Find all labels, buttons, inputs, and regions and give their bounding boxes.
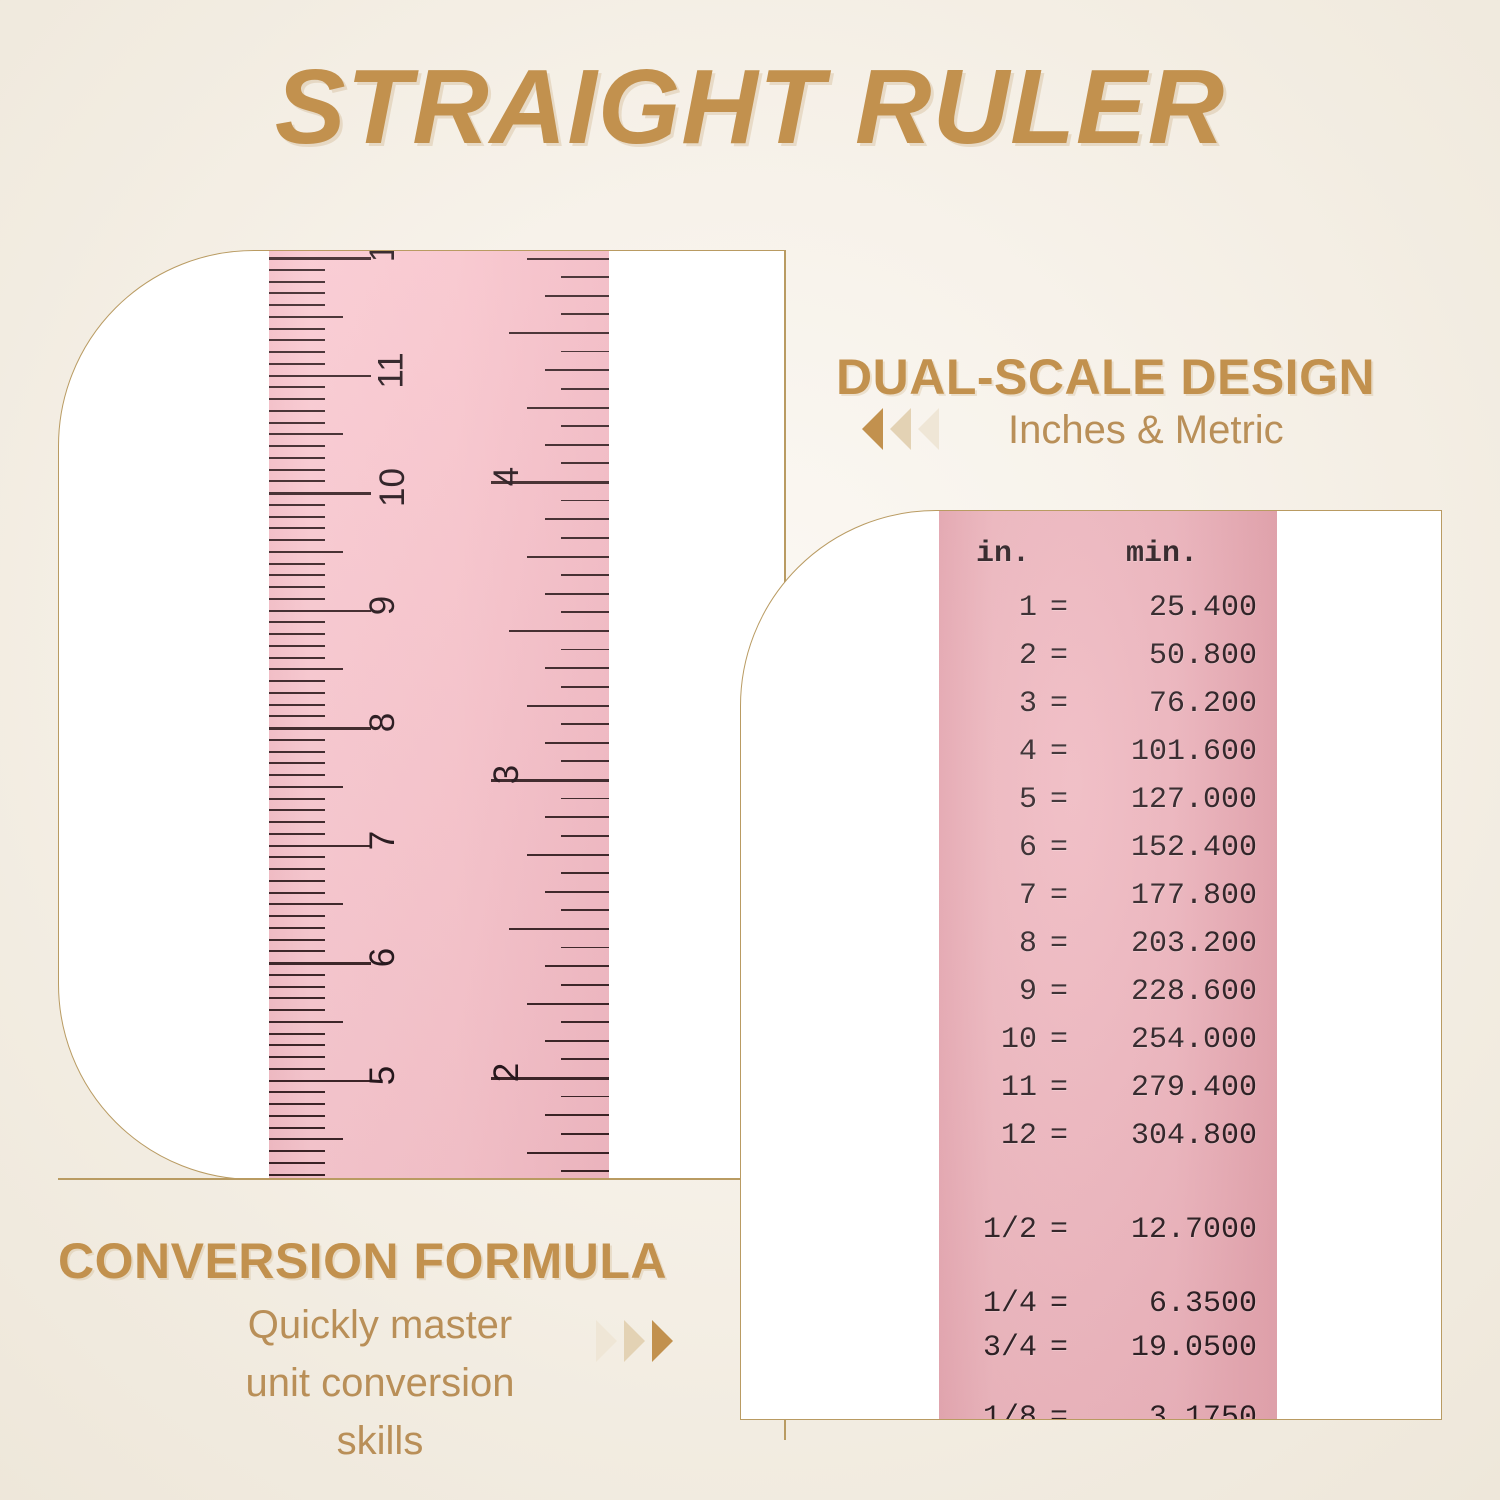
conversion-row-unit: 10 [939,1023,1037,1057]
conversion-row-value: 279.400 [1081,1071,1257,1105]
ruler-tick [269,1162,325,1164]
ruler-tick [561,351,609,353]
ruler-tick [269,1009,325,1011]
ruler-tick [545,667,609,669]
conversion-row-unit: 6 [939,831,1037,865]
ruler-tick [545,1040,609,1042]
ruler-imperial-label: 4 [489,467,524,486]
conversion-row-value: 304.800 [1081,1119,1257,1153]
ruler-imperial-label: 3 [489,765,524,784]
ruler-tick [561,1096,609,1098]
ruler-tick [269,1115,325,1117]
ruler-metric-label: 7 [365,830,400,849]
conversion-row-unit: 12 [939,1119,1037,1153]
ruler-tick [269,739,325,741]
conversion-formula-heading: CONVERSION FORMULA [58,1232,667,1290]
conversion-row: 3=76.200 [939,687,1277,721]
ruler-tick [269,1127,325,1129]
ruler-metric-label: 9 [365,595,400,614]
ruler-tick [269,504,325,506]
conversion-row-equals: = [1037,1401,1081,1420]
ruler-tick [269,551,343,553]
ruler-tick [269,974,325,976]
conversion-row-value: 25.400 [1081,591,1257,625]
ruler-tick [509,332,609,334]
conversion-row-equals: = [1037,1331,1081,1365]
conversion-card-panel: in. min. 1=25.4002=50.8003=76.2004=101.6… [740,510,1442,1420]
conversion-row-equals: = [1037,591,1081,625]
ruler-tick [269,1021,343,1023]
column-header-inches: in. [939,537,1067,571]
conversion-row-equals: = [1037,783,1081,817]
ruler-tick [561,872,609,874]
ruler-tick [545,965,609,967]
conversion-row: 2=50.800 [939,639,1277,673]
ruler-tick [269,704,325,706]
conversion-row-equals: = [1037,1287,1081,1321]
ruler-tick [269,328,325,330]
ruler-tick [545,593,609,595]
conversion-row-unit: 8 [939,927,1037,961]
ruler-tick [269,539,325,541]
page-title: STRAIGHT RULER [0,52,1500,163]
ruler-tick [269,657,325,659]
conversion-row: 9=228.600 [939,975,1277,1009]
ruler-tick [545,444,609,446]
table-header-row: in. min. [939,537,1277,571]
ruler-tick [269,1068,325,1070]
conversion-row: 1=25.400 [939,591,1277,625]
ruler-tick [561,1058,609,1060]
ruler-tick [269,680,325,682]
ruler-tick [561,760,609,762]
ruler-tick [269,939,325,941]
ruler-tick [269,798,325,800]
conversion-row: 12=304.800 [939,1119,1277,1153]
ruler-metric-label: 5 [365,1065,400,1084]
ruler-tick [269,292,325,294]
ruler-tick [527,854,609,856]
conversion-row-unit: 7 [939,879,1037,913]
ruler-tick [561,1021,609,1023]
ruler-tick [269,257,371,260]
conversion-row-value: 6.3500 [1081,1287,1257,1321]
ruler-tick [561,425,609,427]
ruler-tick [561,388,609,390]
ruler-tick [269,950,325,952]
chevron-right-icon [624,1320,645,1362]
conversion-row-equals: = [1037,975,1081,1009]
ruler-tick [269,845,371,848]
ruler-tick [545,369,609,371]
conversion-row-unit: 5 [939,783,1037,817]
panel-divider-horizontal [58,1178,786,1180]
ruler-tick [561,798,609,800]
conversion-row-value: 50.800 [1081,639,1257,673]
conversion-row-value: 76.200 [1081,687,1257,721]
ruler-tick [561,611,609,613]
ruler-tick [269,880,325,882]
ruler-tick [527,1152,609,1154]
dual-scale-subtitle: Inches & Metric [1008,408,1284,453]
ruler-tick [269,774,325,776]
ruler-tick [269,586,325,588]
conversion-row-value: 177.800 [1081,879,1257,913]
ruler-tick [269,351,325,353]
chevron-right-group [596,1320,680,1362]
ruler-tick [527,556,609,558]
conversion-row-equals: = [1037,1119,1081,1153]
ruler-tick [269,809,325,811]
ruler-metric-label: 11 [374,352,409,388]
conversion-row-value: 127.000 [1081,783,1257,817]
ruler-tick [269,316,343,318]
conversion-row-value: 101.600 [1081,735,1257,769]
ruler-tick [269,386,325,388]
ruler-tick [269,480,325,482]
ruler-metric-label: 1 [365,250,400,262]
ruler-tick [269,469,325,471]
conversion-row-unit: 1/8 [939,1401,1037,1420]
ruler-tick [269,492,371,495]
ruler-tick [561,686,609,688]
ruler-metric-label: 8 [365,713,400,732]
ruler-tick [545,1114,609,1116]
conversion-row: 11=279.400 [939,1071,1277,1105]
ruler-tick [545,295,609,297]
ruler-tick [269,986,325,988]
ruler-tick [269,1103,325,1105]
ruler-tick [269,727,371,730]
ruler-tick [269,422,325,424]
ruler-tick [269,433,343,435]
column-header-millimeters: min. [1067,537,1257,571]
ruler-tick [269,821,325,823]
chevron-left-group [862,408,946,450]
ruler-tick [269,903,343,905]
ruler-tick [269,457,325,459]
ruler-tick [561,909,609,911]
ruler-tick [269,633,325,635]
ruler-tick [269,786,343,788]
conversion-row-equals: = [1037,831,1081,865]
conversion-row: 5=127.000 [939,783,1277,817]
ruler-tick [269,927,325,929]
ruler-tick [561,276,609,278]
conversion-row-unit: 11 [939,1071,1037,1105]
ruler-tick [269,621,325,623]
conversion-row-unit: 4 [939,735,1037,769]
conversion-row: 1/8=3.1750 [939,1401,1277,1420]
ruler-tick [561,723,609,725]
ruler-tick [269,516,325,518]
ruler-tick [545,816,609,818]
conversion-table: in. min. 1=25.4002=50.8003=76.2004=101.6… [939,510,1277,1420]
ruler-tick [269,997,325,999]
ruler-tick [269,915,325,917]
conversion-card-strip: in. min. 1=25.4002=50.8003=76.2004=101.6… [939,510,1277,1420]
conversion-row-equals: = [1037,927,1081,961]
conversion-row-value: 19.0500 [1081,1331,1257,1365]
ruler-tick [269,751,325,753]
ruler-tick [509,630,609,632]
conversion-row-unit: 3/4 [939,1331,1037,1365]
conversion-row: 8=203.200 [939,927,1277,961]
chevron-left-icon [918,408,939,450]
ruler-photo-panel: 1111098765432 [58,250,786,1180]
ruler-tick [269,574,325,576]
ruler-tick [561,649,609,651]
conversion-row-value: 3.1750 [1081,1401,1257,1420]
conversion-row: 1/2=12.7000 [939,1213,1277,1247]
ruler-tick [269,269,325,271]
conversion-row: 7=177.800 [939,879,1277,913]
ruler-tick [561,1133,609,1135]
ruler-tick [545,518,609,520]
conversion-row-equals: = [1037,1071,1081,1105]
conversion-row-equals: = [1037,639,1081,673]
ruler-tick [561,500,609,502]
ruler-tick [269,962,371,965]
ruler-tick [561,1170,609,1172]
ruler-tick [269,868,325,870]
conversion-row-value: 12.7000 [1081,1213,1257,1247]
ruler-tick [527,407,609,409]
conversion-row-unit: 1/4 [939,1287,1037,1321]
conversion-row: 10=254.000 [939,1023,1277,1057]
ruler-tick [561,835,609,837]
ruler-tick [269,304,325,306]
conversion-row-equals: = [1037,735,1081,769]
conversion-row-equals: = [1037,1213,1081,1247]
ruler-tick [527,1003,609,1005]
ruler-tick [561,462,609,464]
conversion-row-unit: 3 [939,687,1037,721]
ruler-tick [561,313,609,315]
ruler-tick [269,1091,325,1093]
ruler-tick [269,563,325,565]
ruler-tick [269,892,325,894]
ruler-tick [561,947,609,949]
product-feature-canvas: STRAIGHT RULER 1111098765432 in. min. 1=… [0,0,1500,1500]
conversion-row-equals: = [1037,687,1081,721]
ruler-tick [561,574,609,576]
ruler-tick [269,692,325,694]
ruler-tick [269,598,325,600]
ruler-tick [269,715,325,717]
ruler-tick [527,258,609,260]
conversion-row-unit: 9 [939,975,1037,1009]
ruler-tick [269,1080,371,1083]
conversion-row-unit: 1 [939,591,1037,625]
ruler-tick [561,537,609,539]
conversion-row: 3/4=19.0500 [939,1331,1277,1365]
ruler-tick [269,363,325,365]
ruler-tick [269,375,371,378]
ruler-tick [269,410,325,412]
ruler-tick [269,1033,325,1035]
ruler-tick [269,398,325,400]
ruler-tick [269,645,325,647]
conversion-formula-subtitle: Quickly master unit conversion skills [210,1296,550,1470]
ruler-tick [269,762,325,764]
ruler-tick [269,1174,325,1176]
conversion-row: 4=101.600 [939,735,1277,769]
ruler-imperial-label: 2 [489,1063,524,1082]
conversion-row-value: 152.400 [1081,831,1257,865]
ruler-tick [527,705,609,707]
conversion-row-value: 203.200 [1081,927,1257,961]
conversion-row: 1/4=6.3500 [939,1287,1277,1321]
ruler-tick [269,281,325,283]
ruler-tick [269,1138,343,1140]
conversion-row-value: 228.600 [1081,975,1257,1009]
conversion-row-equals: = [1037,1023,1081,1057]
conversion-row-value: 254.000 [1081,1023,1257,1057]
ruler-tick [269,1044,325,1046]
ruler-tick [509,928,609,930]
chevron-left-icon [890,408,911,450]
conversion-row: 6=152.400 [939,831,1277,865]
ruler-tick [269,339,325,341]
dual-scale-heading: DUAL-SCALE DESIGN [836,348,1375,406]
chevron-right-icon [652,1320,673,1362]
ruler-tick [269,610,371,613]
ruler-image: 1111098765432 [269,250,609,1180]
conversion-row-equals: = [1037,879,1081,913]
ruler-tick [561,984,609,986]
ruler-metric-label: 10 [375,468,410,507]
chevron-right-icon [596,1320,617,1362]
conversion-row-unit: 1/2 [939,1213,1037,1247]
ruler-tick [269,856,325,858]
ruler-metric-label: 6 [365,948,400,967]
ruler-tick [269,527,325,529]
ruler-tick [269,668,343,670]
ruler-tick [269,1150,325,1152]
ruler-tick [545,891,609,893]
chevron-left-icon [862,408,883,450]
ruler-tick [269,1056,325,1058]
ruler-tick [545,742,609,744]
ruler-tick [269,445,325,447]
ruler-tick [269,833,325,835]
conversion-row-unit: 2 [939,639,1037,673]
